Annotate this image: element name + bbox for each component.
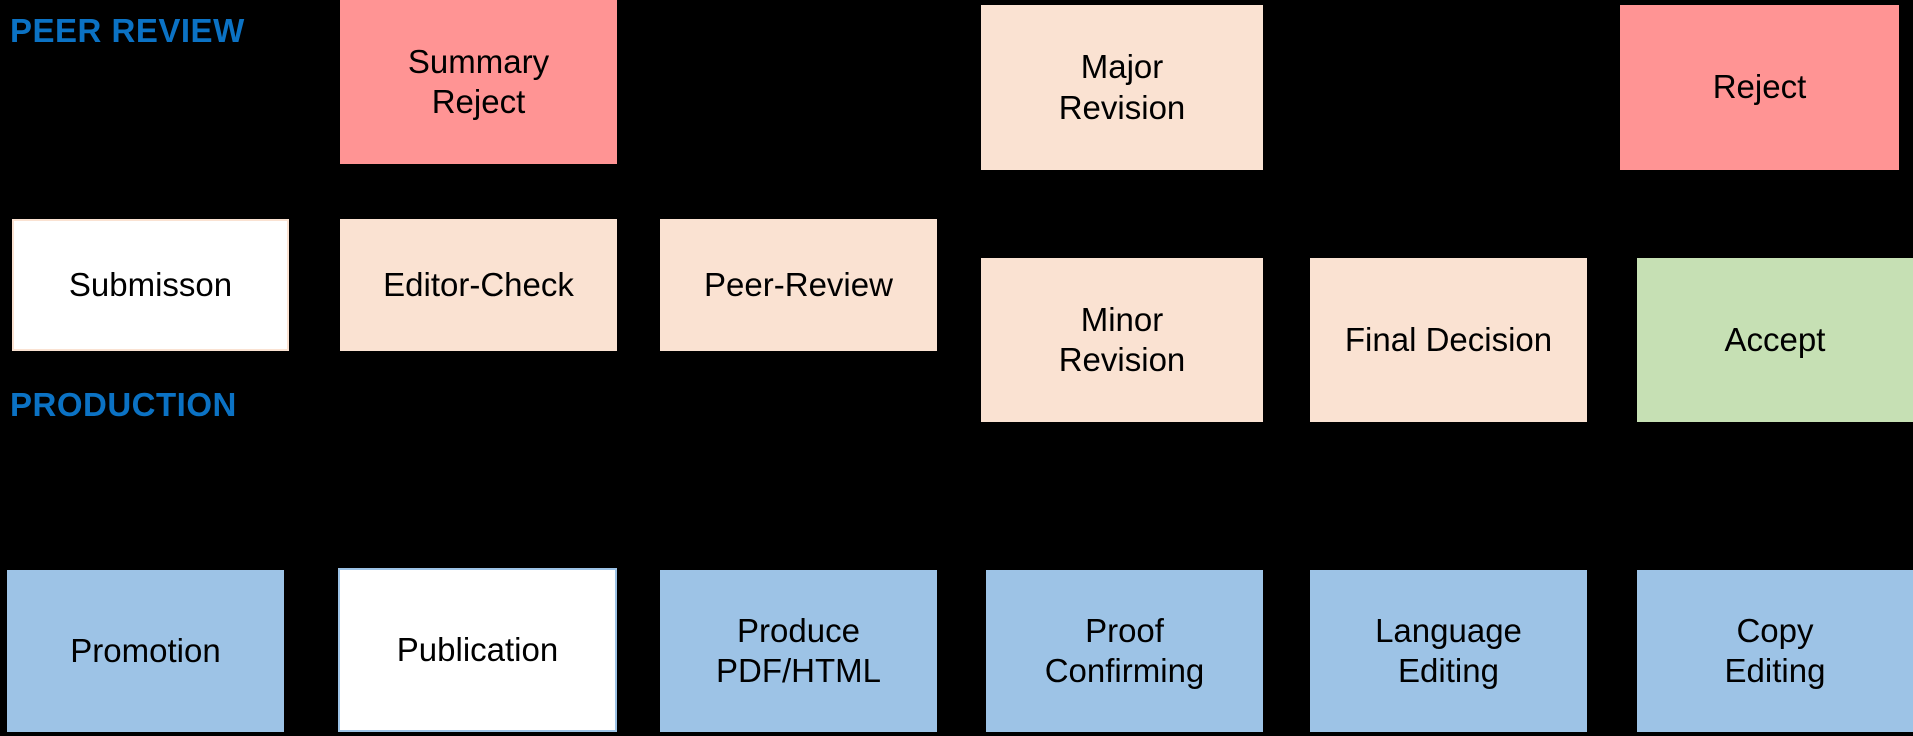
diagram-canvas: PEER REVIEW PRODUCTION Summary RejectMaj… bbox=[0, 0, 1913, 736]
workflow-node-language-editing[interactable]: Language Editing bbox=[1310, 570, 1587, 732]
workflow-node-proof-confirming[interactable]: Proof Confirming bbox=[986, 570, 1263, 732]
section-label-peer-review: PEER REVIEW bbox=[10, 14, 245, 47]
workflow-node-major-revision[interactable]: Major Revision bbox=[981, 5, 1263, 170]
workflow-node-submisson[interactable]: Submisson bbox=[12, 219, 289, 351]
workflow-node-peer-review-node[interactable]: Peer-Review bbox=[660, 219, 937, 351]
workflow-node-final-decision[interactable]: Final Decision bbox=[1310, 258, 1587, 422]
workflow-node-minor-revision[interactable]: Minor Revision bbox=[981, 258, 1263, 422]
workflow-node-accept[interactable]: Accept bbox=[1637, 258, 1913, 422]
workflow-node-produce-pdf-html[interactable]: Produce PDF/HTML bbox=[660, 570, 937, 732]
workflow-node-copy-editing[interactable]: Copy Editing bbox=[1637, 570, 1913, 732]
workflow-node-reject[interactable]: Reject bbox=[1620, 5, 1899, 170]
workflow-node-publication[interactable]: Publication bbox=[338, 568, 617, 732]
workflow-node-summary-reject[interactable]: Summary Reject bbox=[340, 0, 617, 164]
workflow-node-promotion[interactable]: Promotion bbox=[7, 570, 284, 732]
section-label-production: PRODUCTION bbox=[10, 388, 237, 421]
workflow-node-editor-check[interactable]: Editor-Check bbox=[340, 219, 617, 351]
